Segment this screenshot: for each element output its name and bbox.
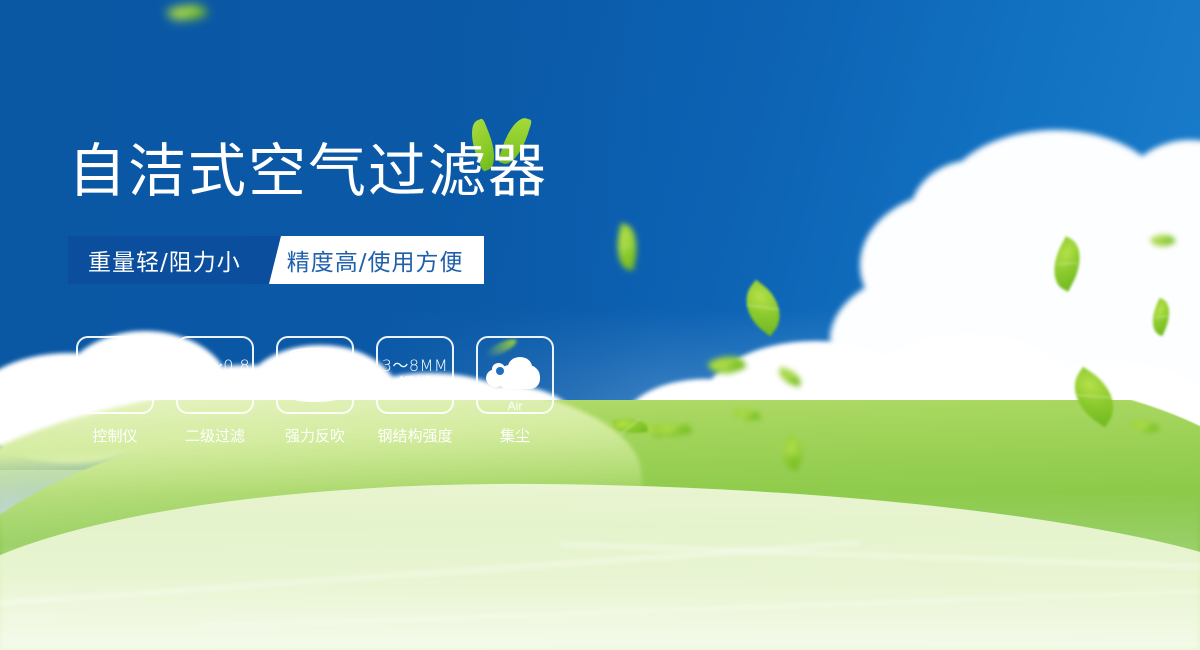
air-label: Air xyxy=(484,399,546,413)
gauge-off-label: OFF xyxy=(131,389,147,405)
feature-list: NO OFF 控制仪 0.6～0.8 MPA 二级过滤 xyxy=(76,336,554,446)
feature-icon-box: 3～8MM 钢板 xyxy=(376,336,454,414)
feature-item-pressure[interactable]: 0.6～0.8 MPA 二级过滤 xyxy=(176,336,254,446)
feature-label: 集尘 xyxy=(500,425,530,446)
page-title: 自洁式空气过滤器 xyxy=(68,141,548,202)
feature-label: 控制仪 xyxy=(92,425,137,446)
steel-plate-unit-text: 钢板 xyxy=(398,375,431,393)
gauge-dial-icon: NO OFF xyxy=(84,346,146,404)
air-cloud-icon: Air xyxy=(484,349,546,397)
banner-stage: 自洁式空气过滤器 重量轻/阻力小 精度高/使用方便 xyxy=(0,0,1200,650)
pressure-value-icon: 0.6～0.8 xyxy=(180,357,250,375)
feature-label: 强力反吹 xyxy=(285,425,345,446)
feature-icon-box: 0.6～0.8 MPA xyxy=(176,336,254,414)
gauge-on-label: NO xyxy=(83,367,96,380)
feature-label: 二级过滤 xyxy=(185,425,245,446)
filter-cartridge-icon xyxy=(287,347,343,403)
tagline-secondary: 精度高/使用方便 xyxy=(259,236,484,284)
feature-label: 钢结构强度 xyxy=(377,425,452,446)
feature-item-dust[interactable]: Air 集尘 xyxy=(476,336,554,446)
leaf-streak-icon xyxy=(484,336,519,360)
feature-item-controller[interactable]: NO OFF 控制仪 xyxy=(76,336,154,446)
pressure-unit-text: MPA xyxy=(198,375,233,393)
tagline-primary: 重量轻/阻力小 xyxy=(68,236,263,284)
feature-icon-box: NO OFF xyxy=(76,336,154,414)
feature-icon-box: Air xyxy=(476,336,554,414)
hill-front-sheen xyxy=(0,490,1200,650)
steel-plate-icon: 3～8MM xyxy=(382,357,448,375)
feature-icon-box xyxy=(276,336,354,414)
feature-item-steel[interactable]: 3～8MM 钢板 钢结构强度 xyxy=(376,336,454,446)
tagline-bar: 重量轻/阻力小 精度高/使用方便 xyxy=(68,236,484,284)
gauge-needle xyxy=(110,355,120,395)
feature-item-blowback[interactable]: 强力反吹 xyxy=(276,336,354,446)
